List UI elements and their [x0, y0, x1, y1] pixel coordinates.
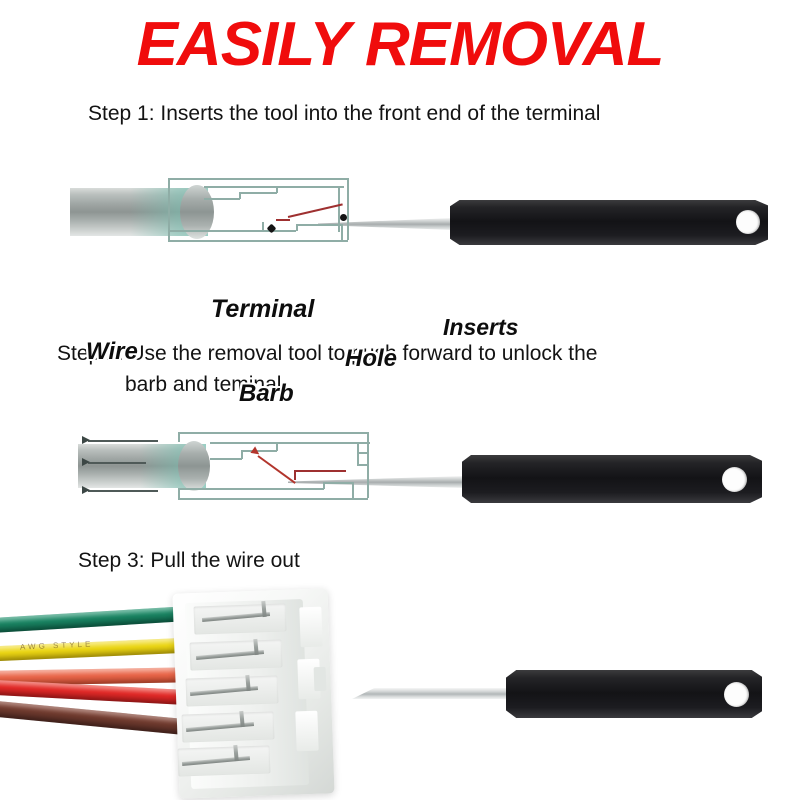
tool-handle-body — [450, 200, 768, 245]
tool-blade — [352, 688, 512, 699]
step-2-caption-line1: Step 2: Use the removal tool to push for… — [57, 342, 597, 365]
label-wire: Wire — [86, 338, 138, 366]
pull-arrow-mid-line — [88, 462, 146, 464]
barb-spring-arm — [288, 203, 343, 217]
terminal-bottom-edge — [168, 240, 348, 242]
wire-crimp-end — [178, 441, 210, 491]
terminal-bottom-left — [178, 488, 180, 498]
pull-arrow-top-head — [82, 436, 90, 444]
barb-unlocked-arm — [296, 470, 346, 472]
label-hole: Hole — [345, 345, 397, 373]
terminal-bottom-right — [352, 482, 354, 499]
pull-arrow-top-line — [88, 440, 158, 442]
pull-arrow-bottom-line — [88, 490, 158, 492]
brown-wire — [0, 700, 206, 737]
step-3-caption: Step 3: Pull the wire out — [78, 545, 678, 576]
terminal-right-edge — [347, 178, 349, 240]
terminal-contour-a — [210, 458, 242, 460]
terminal-top-left — [178, 432, 180, 442]
label-inserts: Inserts — [443, 314, 518, 341]
step-1-caption: Step 1: Inserts the tool into the front … — [88, 98, 748, 129]
step-2-caption: Step 2: Use the removal tool to push for… — [57, 338, 757, 400]
barb-unlocked-riser — [294, 470, 296, 480]
tool-handle-body — [462, 455, 762, 503]
instruction-infographic: EASILY REMOVAL Step 1: Inserts the tool … — [0, 0, 800, 800]
terminal-bottom-lip — [296, 224, 342, 226]
page-title: EASILY REMOVAL — [0, 12, 800, 78]
terminal-bottom-lip — [323, 482, 353, 484]
step-2-caption-line2: barb and teminal — [57, 369, 757, 400]
terminal-contour-d — [276, 442, 278, 451]
terminal-contour-a — [204, 198, 240, 200]
barb-marker — [267, 224, 277, 234]
terminal-contour-c — [239, 192, 277, 194]
terminal-top-edge — [178, 432, 368, 434]
tool-hanging-hole — [724, 682, 749, 707]
hole-marker — [340, 214, 347, 221]
tool-blade — [288, 476, 468, 488]
pull-arrow-mid-head — [82, 458, 90, 466]
pull-arrow-bottom-head — [82, 486, 90, 494]
unlock-arrow-shaft — [257, 455, 295, 484]
connector-rib — [299, 607, 322, 648]
connector-rib — [295, 711, 318, 752]
tool-hanging-hole — [722, 467, 747, 492]
terminal-inner-top — [210, 442, 370, 444]
terminal-inner-top — [204, 186, 344, 188]
terminal-bottom-inner — [168, 230, 296, 232]
terminal-right-notch-b — [357, 464, 368, 466]
terminal-bottom-right — [341, 224, 343, 241]
terminal-right-notch-a — [357, 452, 368, 454]
step-3-photo: AWG STYLE — [0, 575, 800, 800]
terminal-top-edge — [168, 178, 348, 180]
terminal-bottom-inner — [178, 488, 324, 490]
label-terminal: Terminal — [211, 295, 314, 324]
terminal-contour-d — [276, 186, 278, 193]
terminal-bottom-edge — [178, 498, 368, 500]
label-barb: Barb — [239, 380, 294, 408]
step-2-diagram: Pull Wire — [0, 400, 800, 530]
connector-latch-notch — [314, 667, 327, 691]
barb-spring-tip — [276, 219, 290, 221]
tool-hanging-hole — [736, 210, 760, 234]
step-1-diagram: Terminal Wire Hole Barb Inserts — [0, 140, 800, 290]
barb-leader — [262, 222, 264, 232]
